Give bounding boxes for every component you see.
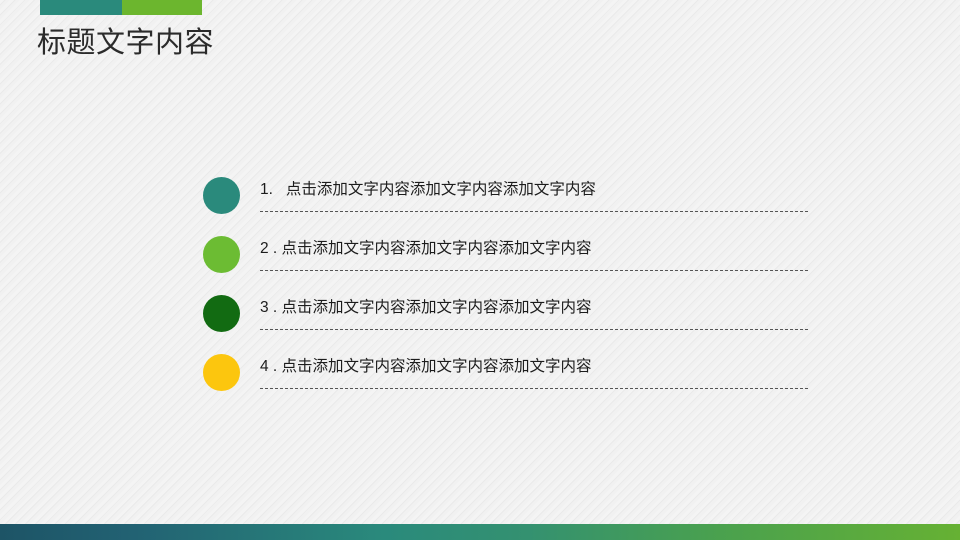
bullet-dot-3 [203,295,240,332]
list-item-label-1: 点击添加文字内容添加文字内容添加文字内容 [286,181,596,198]
list-item-label-3: 点击添加文字内容添加文字内容添加文字内容 [282,299,592,316]
list-item[interactable]: 4 . 点击添加文字内容添加文字内容添加文字内容 [203,350,813,409]
list-item-number-1: 1. [260,181,273,198]
slide-canvas: 标题文字内容 1. 点击添加文字内容添加文字内容添加文字内容 2 . 点击添加文… [0,0,960,540]
list-item-text-2: 2 . 点击添加文字内容添加文字内容添加文字内容 [260,232,808,259]
list-item[interactable]: 2 . 点击添加文字内容添加文字内容添加文字内容 [203,232,813,291]
accent-bar-teal [40,0,122,15]
bullet-list: 1. 点击添加文字内容添加文字内容添加文字内容 2 . 点击添加文字内容添加文字… [203,173,813,409]
list-item-body: 4 . 点击添加文字内容添加文字内容添加文字内容 [260,350,808,389]
list-item[interactable]: 3 . 点击添加文字内容添加文字内容添加文字内容 [203,291,813,350]
list-item-label-2: 点击添加文字内容添加文字内容添加文字内容 [282,240,592,257]
list-item-label-4: 点击添加文字内容添加文字内容添加文字内容 [282,358,592,375]
list-item-divider-1 [260,211,808,212]
list-item-body: 1. 点击添加文字内容添加文字内容添加文字内容 [260,173,808,212]
bullet-dot-1 [203,177,240,214]
header-accent-bars [40,0,202,15]
list-item-body: 2 . 点击添加文字内容添加文字内容添加文字内容 [260,232,808,271]
list-item-divider-4 [260,388,808,389]
accent-bar-green [122,0,202,15]
list-item-number-4: 4 . [260,358,277,375]
bullet-dot-4 [203,354,240,391]
list-item-number-3: 3 . [260,299,277,316]
list-item-body: 3 . 点击添加文字内容添加文字内容添加文字内容 [260,291,808,330]
list-item-number-2: 2 . [260,240,277,257]
list-item-divider-2 [260,270,808,271]
list-item-text-1: 1. 点击添加文字内容添加文字内容添加文字内容 [260,173,808,200]
list-item-text-3: 3 . 点击添加文字内容添加文字内容添加文字内容 [260,291,808,318]
footer-gradient-bar [0,524,960,540]
page-title: 标题文字内容 [37,26,214,60]
list-item-text-4: 4 . 点击添加文字内容添加文字内容添加文字内容 [260,350,808,377]
list-item[interactable]: 1. 点击添加文字内容添加文字内容添加文字内容 [203,173,813,232]
list-item-divider-3 [260,329,808,330]
bullet-dot-2 [203,236,240,273]
